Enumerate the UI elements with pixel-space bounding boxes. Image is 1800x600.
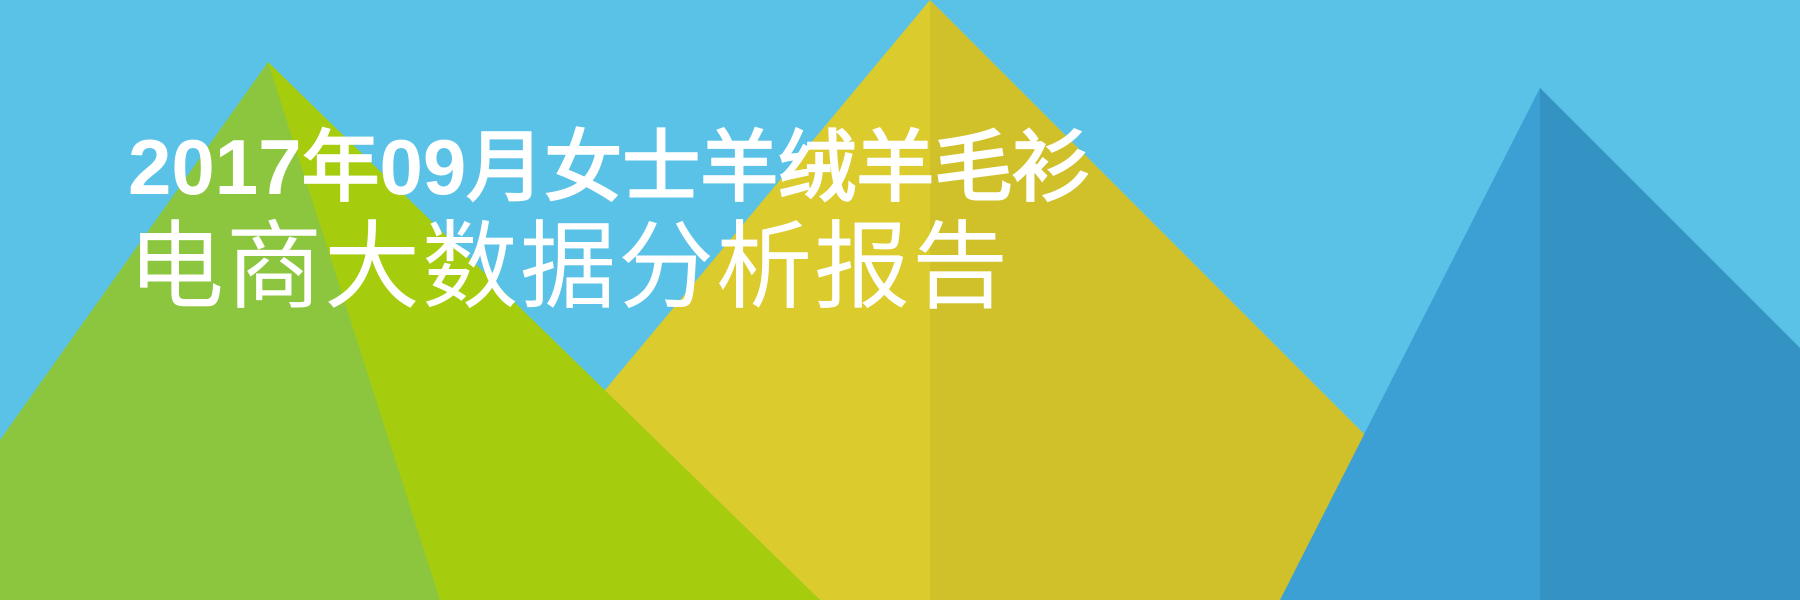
report-cover-banner: 2017年09月女士羊绒羊毛衫 电商大数据分析报告 — [0, 0, 1800, 600]
background-geometry — [0, 0, 1800, 600]
